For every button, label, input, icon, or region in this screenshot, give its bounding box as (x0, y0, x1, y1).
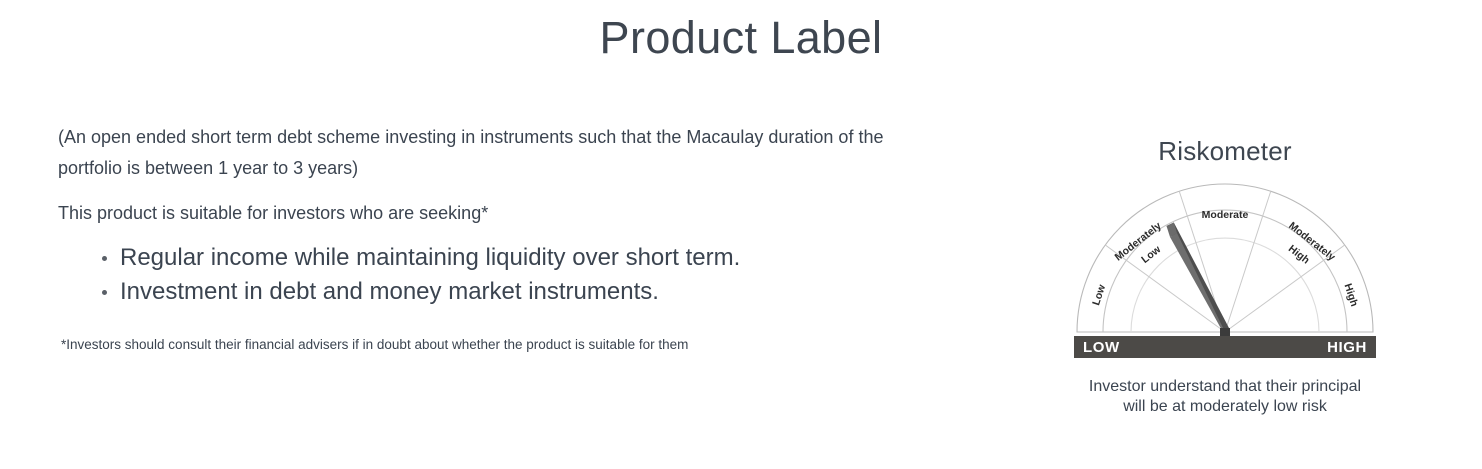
gauge-label-moderate: Moderate (1202, 209, 1249, 221)
riskometer-panel: Riskometer Low Moderately Low Mod (1058, 136, 1392, 417)
riskometer-gauge: Low Moderately Low Moderate Moderately H… (1074, 181, 1376, 366)
scale-high-label: HIGH (1327, 339, 1367, 356)
svg-text:Moderate: Moderate (1202, 209, 1249, 221)
scale-low-label: LOW (1083, 339, 1120, 356)
gauge-pivot (1220, 328, 1230, 336)
riskometer-caption: Investor understand that their principal… (1079, 377, 1371, 417)
page-title: Product Label (0, 12, 1482, 64)
suitability-bullet-list: Regular income while maintaining liquidi… (58, 241, 888, 309)
list-item: Investment in debt and money market inst… (58, 275, 888, 309)
riskometer-heading: Riskometer (1058, 136, 1392, 167)
product-label-content: (An open ended short term debt scheme in… (58, 122, 888, 354)
list-item: Regular income while maintaining liquidi… (58, 241, 888, 275)
footnote-disclaimer: *Investors should consult their financia… (61, 335, 888, 354)
suitability-intro: This product is suitable for investors w… (58, 199, 888, 227)
scheme-description: (An open ended short term debt scheme in… (58, 122, 888, 184)
